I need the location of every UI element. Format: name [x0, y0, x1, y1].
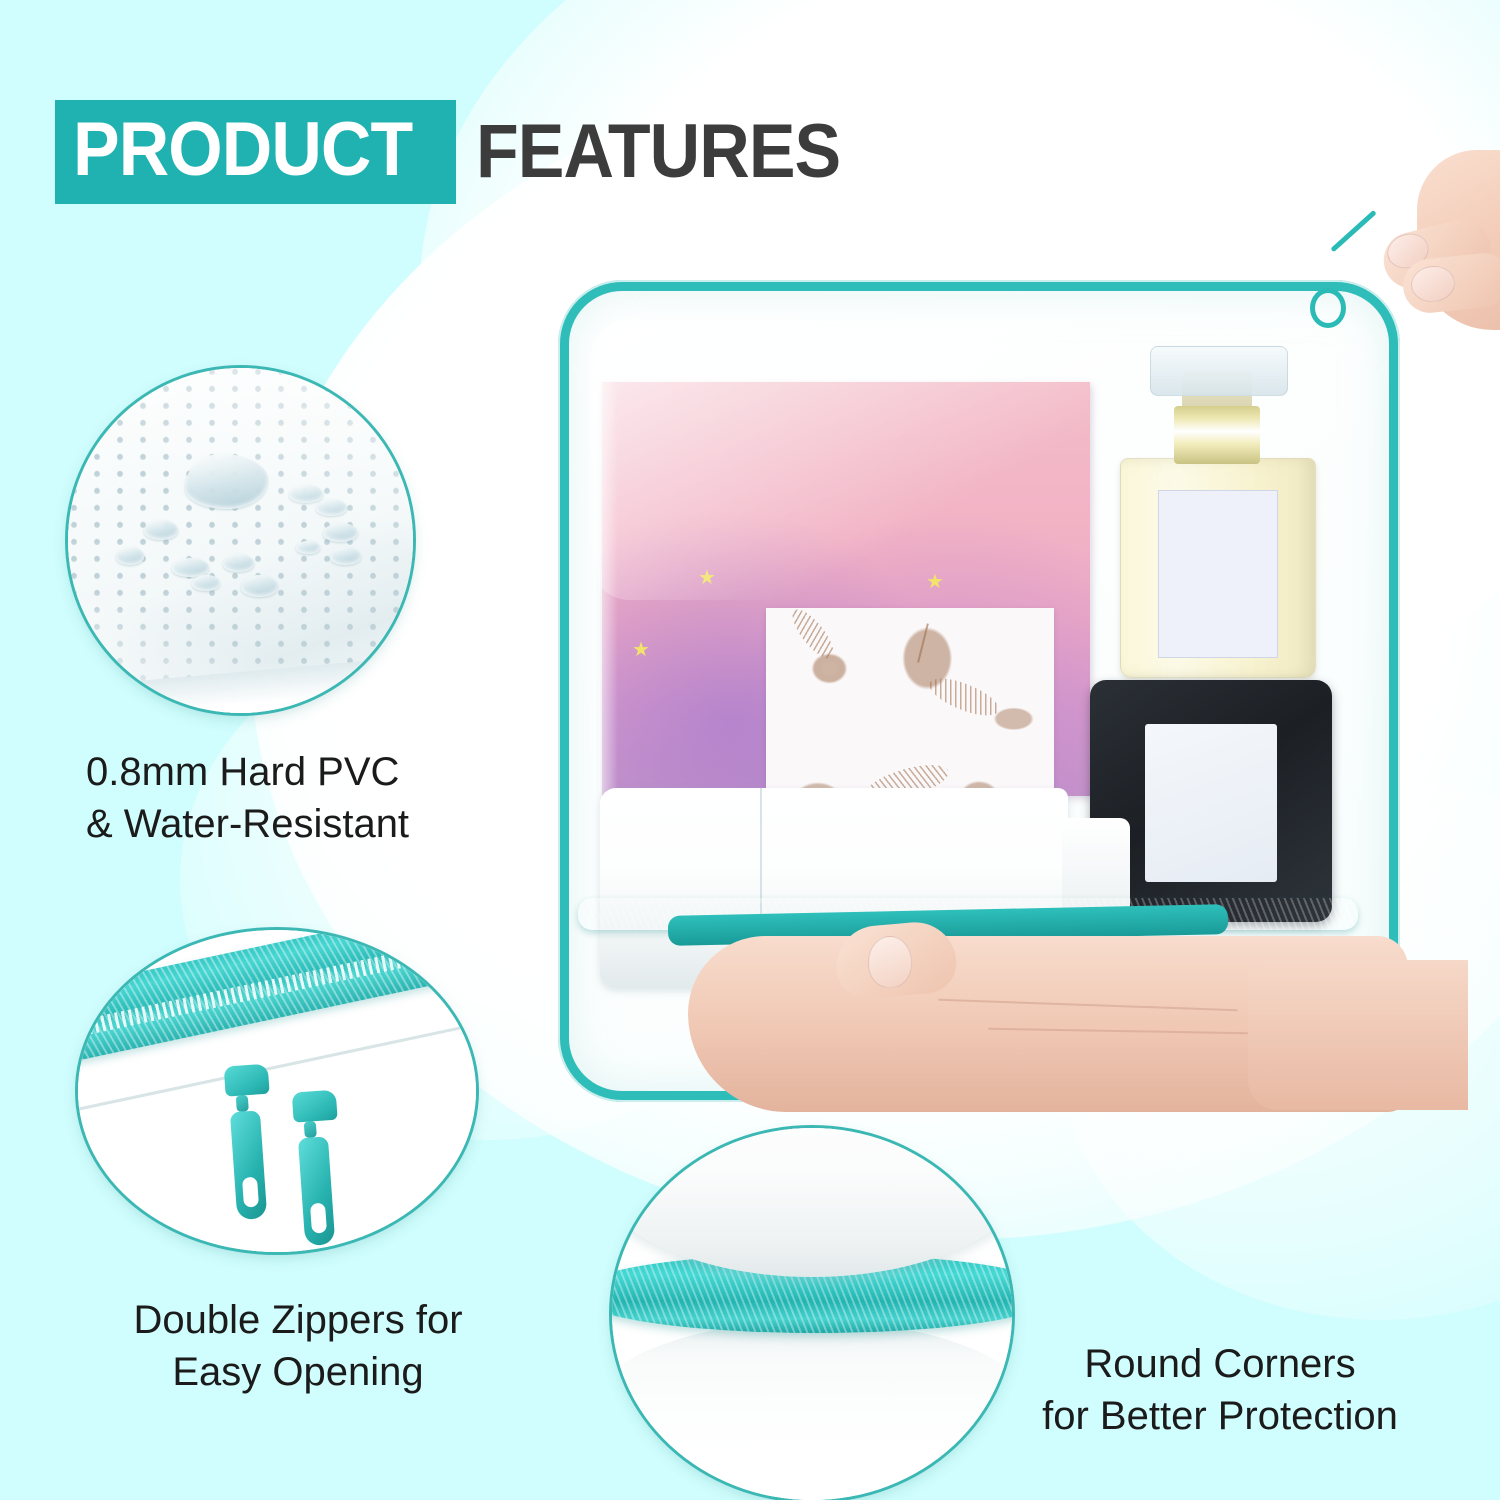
feature-caption-round-corners: Round Corners for Better Protection [1040, 1338, 1400, 1442]
zipper-neck [304, 1121, 317, 1138]
star-accent: ★ [926, 572, 944, 592]
zipper-neck [236, 1095, 249, 1112]
zipper-tab [298, 1136, 335, 1246]
perfume-bottle-cap [1150, 346, 1288, 396]
feature-image-double-zippers [78, 930, 476, 1252]
title-highlight-text: PRODUCT [73, 106, 412, 194]
feature-image-water-resistant [68, 368, 413, 713]
zipper-slider [292, 1090, 338, 1123]
feature-caption-water-resistant: 0.8mm Hard PVC & Water-Resistant [86, 746, 409, 850]
perfume-bottle-collar [1174, 406, 1260, 464]
feature-image-round-corners [612, 1128, 1012, 1500]
compact-mirror-panel [1145, 724, 1277, 882]
star-accent: ★ [632, 640, 650, 660]
feature-caption-double-zippers: Double Zippers for Easy Opening [128, 1294, 468, 1398]
zipper-slider [224, 1064, 270, 1097]
title-highlight-badge: PRODUCT [55, 100, 456, 204]
pink-gradient-pouch: ★ ★ ★ ★ [602, 382, 1090, 796]
product-features-infographic: PRODUCT FEATURES 0.8mm Hard PVC & Water-… [0, 0, 1500, 1500]
pouch-edge-highlight [602, 382, 618, 796]
hand-holding-bag [688, 920, 1448, 1120]
hero-product-photo: ★ ★ ★ ★ [520, 120, 1450, 1080]
perfume-bottle-label [1158, 490, 1278, 658]
wrist [1248, 960, 1468, 1110]
bag-lower-shell [612, 1321, 1012, 1500]
thumbnail [868, 936, 912, 988]
zipper-pull-ring [1310, 288, 1346, 328]
zipper-tab [230, 1111, 267, 1221]
star-accent: ★ [698, 568, 716, 588]
perfume-bottle [1112, 346, 1322, 676]
